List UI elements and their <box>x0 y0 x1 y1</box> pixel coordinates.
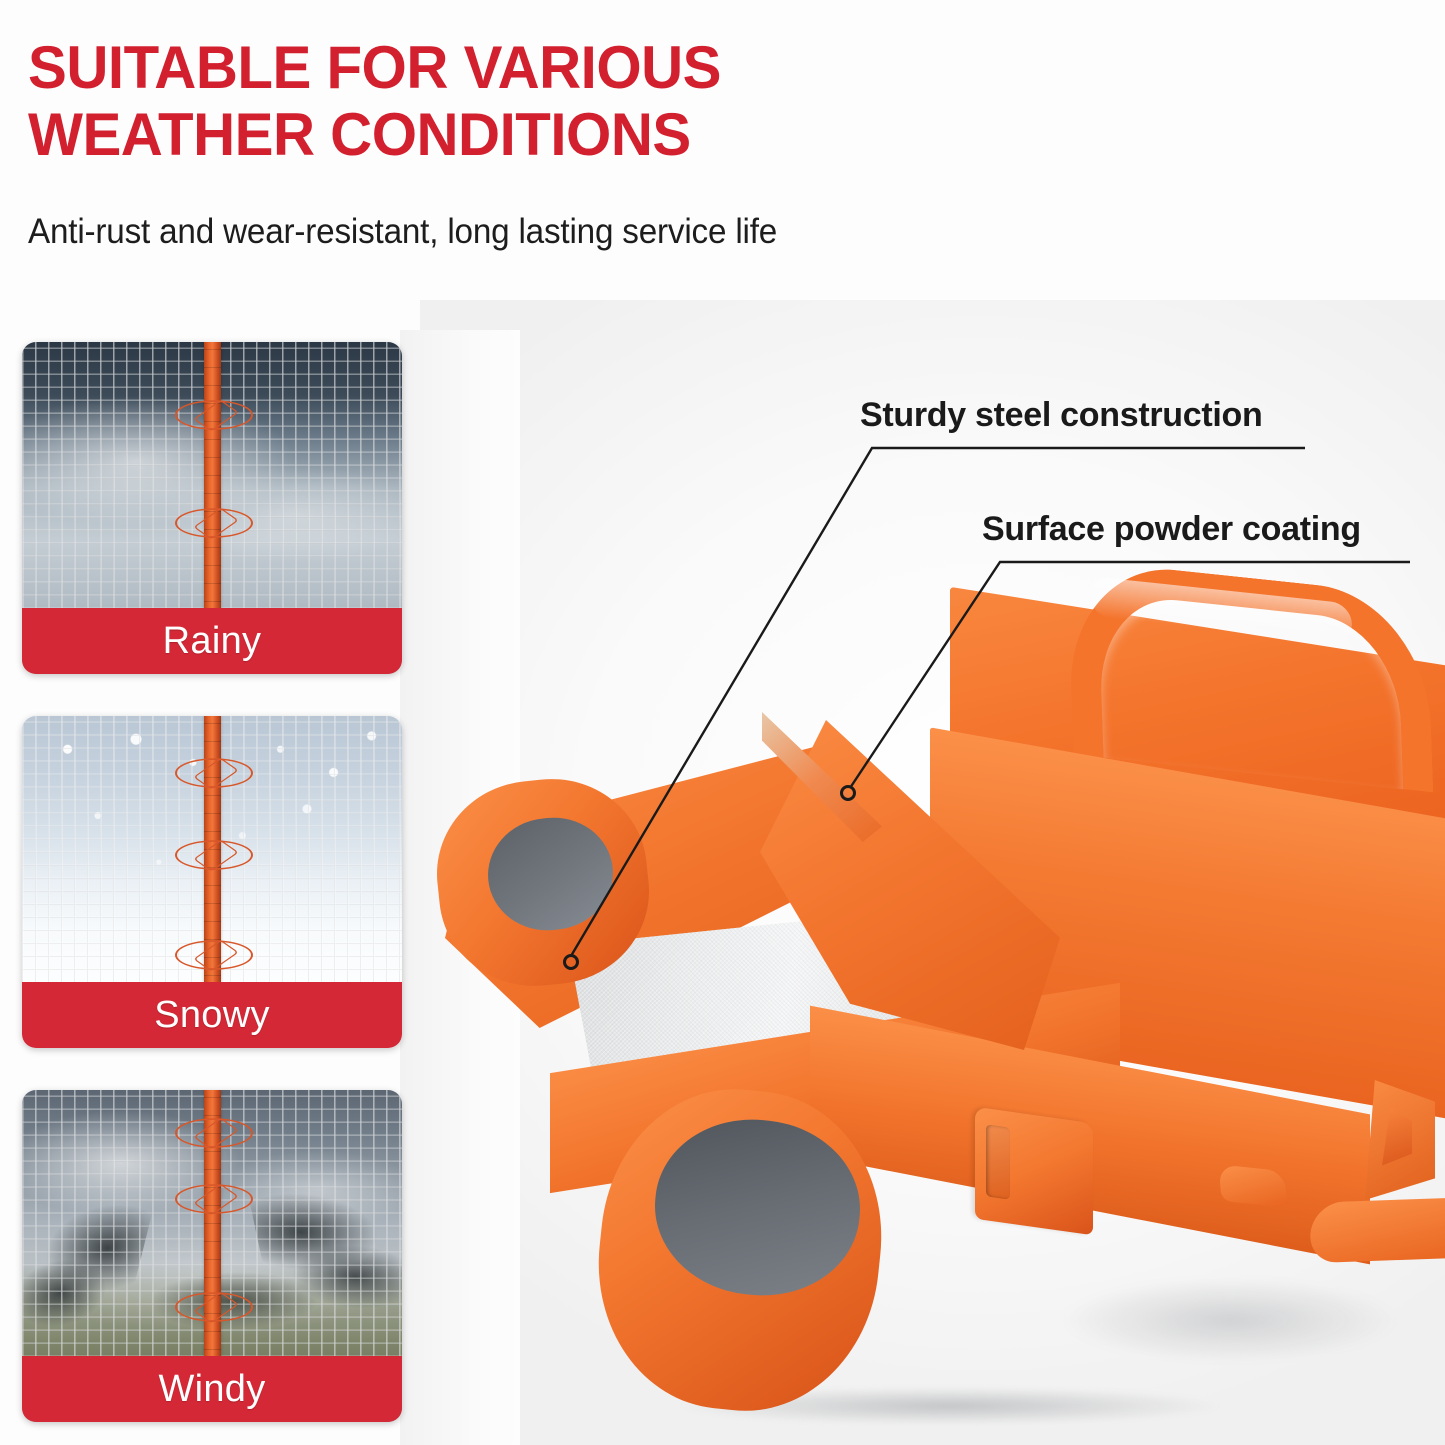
post-clip-icon <box>175 1118 253 1147</box>
post-clip-icon <box>175 400 253 429</box>
infographic-page: SUITABLE FOR VARIOUS WEATHER CONDITIONS … <box>0 0 1445 1445</box>
post-clip-icon <box>175 508 253 537</box>
callout-label-sturdy-steel-construction: Sturdy steel construction <box>860 396 1262 435</box>
post-clip-icon <box>175 940 253 969</box>
thumbnail-label-snowy: Snowy <box>22 982 402 1048</box>
product-tail-bar <box>1307 1197 1445 1264</box>
product-ground-shadow <box>990 1260 1445 1380</box>
post-clip-icon <box>175 1292 253 1321</box>
post-clip-icon <box>175 1184 253 1213</box>
page-headline: SUITABLE FOR VARIOUS WEATHER CONDITIONS <box>28 34 940 168</box>
post-clip-icon <box>175 840 253 869</box>
weather-thumbnail-rainy[interactable]: Rainy <box>22 342 402 674</box>
weather-thumbnail-list: Rainy Snowy Windy <box>22 342 402 1445</box>
product-bracket-slot <box>986 1124 1010 1199</box>
product-illustration <box>430 560 1445 1445</box>
callout-label-surface-powder-coating: Surface powder coating <box>982 510 1361 549</box>
post-clip-icon <box>175 758 253 787</box>
weather-thumbnail-windy[interactable]: Windy <box>22 1090 402 1422</box>
thumbnail-label-windy: Windy <box>22 1356 402 1422</box>
weather-thumbnail-snowy[interactable]: Snowy <box>22 716 402 1048</box>
page-subheadline: Anti-rust and wear-resistant, long lasti… <box>28 212 777 252</box>
thumbnail-label-rainy: Rainy <box>22 608 402 674</box>
